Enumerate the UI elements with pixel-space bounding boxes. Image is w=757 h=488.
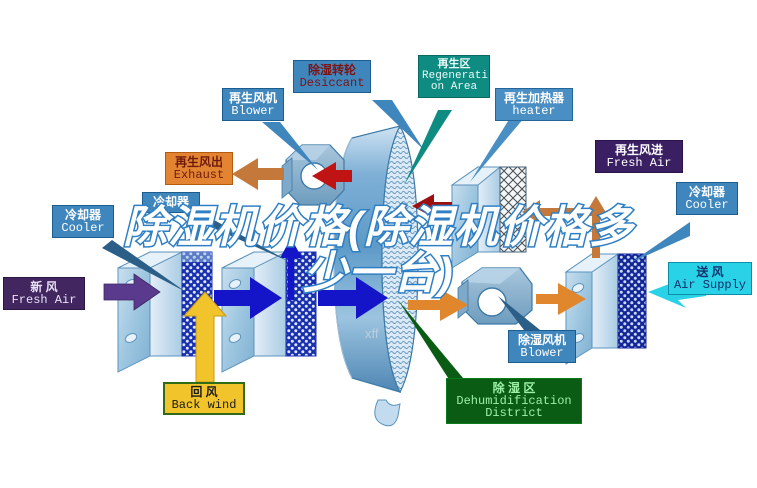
label-regen-heater-cn: 再生加热器: [500, 92, 568, 105]
watermark-text: 除湿机价格(除湿机价格多 少一台): [0, 205, 757, 297]
label-regen-heater: 再生加热器 heater: [495, 88, 573, 121]
label-regeneration-area-cn: 再生区: [422, 59, 486, 71]
diagram-canvas: xff: [0, 0, 757, 488]
label-back-wind: 回 风 Back wind: [163, 382, 245, 415]
label-back-wind-en: Back wind: [169, 399, 239, 412]
label-cooler-right-cn: 冷却器: [681, 186, 733, 199]
label-desiccant-rotor-en: Desiccant: [298, 77, 366, 90]
label-regeneration-area-en2: on Area: [422, 82, 486, 94]
label-desiccant-rotor-cn: 除湿转轮: [298, 64, 366, 77]
label-regen-blower-en: Blower: [227, 105, 279, 118]
label-regen-fresh-air-en: Fresh Air: [600, 157, 678, 170]
arrow-exhaust: [232, 158, 284, 190]
label-regen-exhaust-cn: 再生风出: [170, 156, 228, 169]
label-dehum-blower-en: Blower: [513, 347, 571, 360]
label-regen-exhaust: 再生风出 Exhaust: [165, 152, 233, 185]
label-regen-exhaust-en: Exhaust: [170, 169, 228, 182]
label-dehum-blower: 除湿风机 Blower: [508, 330, 576, 363]
label-dehum-district: 除 湿 区 Dehumidification District: [446, 378, 582, 424]
label-regen-heater-en: heater: [500, 105, 568, 118]
label-dehum-blower-cn: 除湿风机: [513, 334, 571, 347]
label-dehum-district-cn: 除 湿 区: [451, 382, 577, 395]
watermark-line-1: 除湿机价格(除湿机价格多: [123, 203, 634, 252]
label-regen-blower-cn: 再生风机: [227, 92, 279, 105]
label-regen-fresh-air: 再生风进 Fresh Air: [595, 140, 683, 173]
label-regeneration-area: 再生区 Regenerati on Area: [418, 55, 490, 98]
label-regen-fresh-air-cn: 再生风进: [600, 144, 678, 157]
label-desiccant-rotor: 除湿转轮 Desiccant: [293, 60, 371, 93]
rotor-watermark-text: xff: [365, 326, 379, 341]
label-dehum-district-en2: District: [451, 407, 577, 420]
watermark-line-2: 少一台): [0, 251, 757, 297]
label-back-wind-cn: 回 风: [169, 386, 239, 399]
label-regen-blower: 再生风机 Blower: [222, 88, 284, 121]
